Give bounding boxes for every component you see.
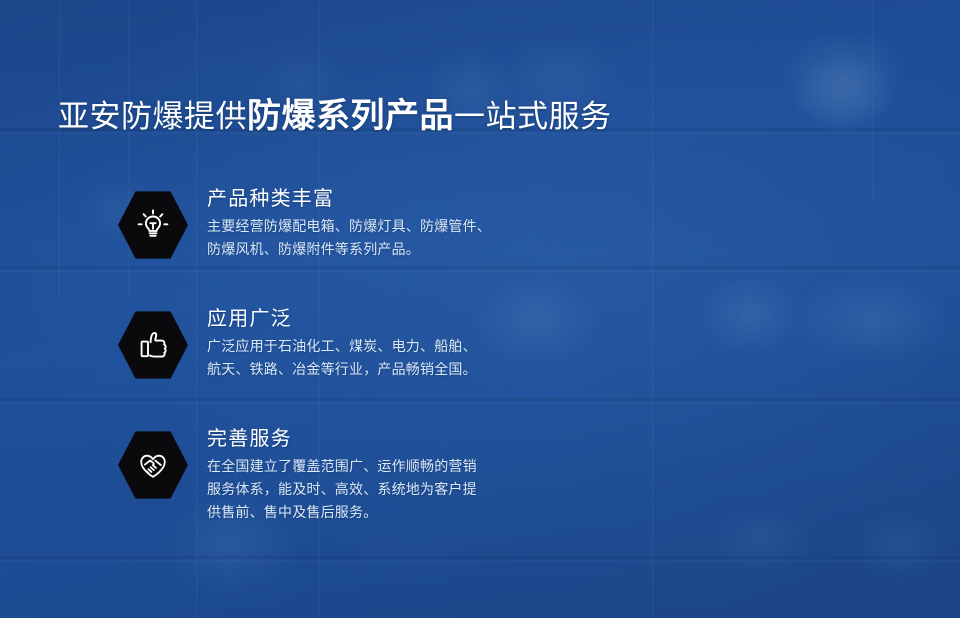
feature-description-line: 服务体系，能及时、高效、系统地为客户提 — [207, 478, 588, 501]
feature-text: 应用广泛 广泛应用于石油化工、煤炭、电力、船舶、 航天、铁路、冶金等行业，产品畅… — [207, 305, 588, 381]
feature-description-line: 防爆风机、防爆附件等系列产品。 — [207, 238, 588, 261]
feature-item: 应用广泛 广泛应用于石油化工、煤炭、电力、船舶、 航天、铁路、冶金等行业，产品畅… — [118, 305, 588, 397]
feature-icon-badge — [118, 310, 188, 380]
feature-title: 完善服务 — [207, 427, 588, 451]
feature-description-line: 广泛应用于石油化工、煤炭、电力、船舶、 — [207, 335, 588, 358]
banner-content: 亚安防爆提供防爆系列产品一站式服务 — [0, 0, 960, 618]
feature-item: 完善服务 在全国建立了覆盖范围广、运作顺畅的营销 服务体系，能及时、高效、系统地… — [118, 425, 588, 523]
promo-banner: 亚安防爆提供防爆系列产品一站式服务 — [0, 0, 960, 618]
feature-title: 产品种类丰富 — [207, 187, 588, 211]
feature-description-line: 主要经营防爆配电箱、防爆灯具、防爆管件、 — [207, 215, 588, 238]
heart-handshake-icon — [133, 445, 173, 485]
thumbs-up-icon — [133, 325, 173, 365]
feature-description: 在全国建立了覆盖范围广、运作顺畅的营销 服务体系，能及时、高效、系统地为客户提 … — [207, 455, 588, 523]
headline-emphasis: 防爆系列产品 — [247, 97, 454, 135]
feature-item: 产品种类丰富 主要经营防爆配电箱、防爆灯具、防爆管件、 防爆风机、防爆附件等系列… — [118, 185, 588, 277]
lightbulb-icon — [133, 205, 173, 245]
feature-list: 产品种类丰富 主要经营防爆配电箱、防爆灯具、防爆管件、 防爆风机、防爆附件等系列… — [118, 185, 588, 523]
feature-text: 完善服务 在全国建立了覆盖范围广、运作顺畅的营销 服务体系，能及时、高效、系统地… — [207, 425, 588, 523]
feature-description: 广泛应用于石油化工、煤炭、电力、船舶、 航天、铁路、冶金等行业，产品畅销全国。 — [207, 335, 588, 380]
feature-description-line: 供售前、售中及售后服务。 — [207, 501, 588, 524]
feature-description-line: 航天、铁路、冶金等行业，产品畅销全国。 — [207, 358, 588, 381]
feature-icon-badge — [118, 430, 188, 500]
feature-title: 应用广泛 — [207, 307, 588, 331]
headline-prefix: 亚安防爆提供 — [58, 99, 247, 134]
feature-description-line: 在全国建立了覆盖范围广、运作顺畅的营销 — [207, 455, 588, 478]
feature-icon-badge — [118, 190, 188, 260]
headline-suffix: 一站式服务 — [454, 99, 612, 134]
banner-headline: 亚安防爆提供防爆系列产品一站式服务 — [58, 99, 612, 133]
feature-text: 产品种类丰富 主要经营防爆配电箱、防爆灯具、防爆管件、 防爆风机、防爆附件等系列… — [207, 185, 588, 261]
feature-description: 主要经营防爆配电箱、防爆灯具、防爆管件、 防爆风机、防爆附件等系列产品。 — [207, 215, 588, 260]
